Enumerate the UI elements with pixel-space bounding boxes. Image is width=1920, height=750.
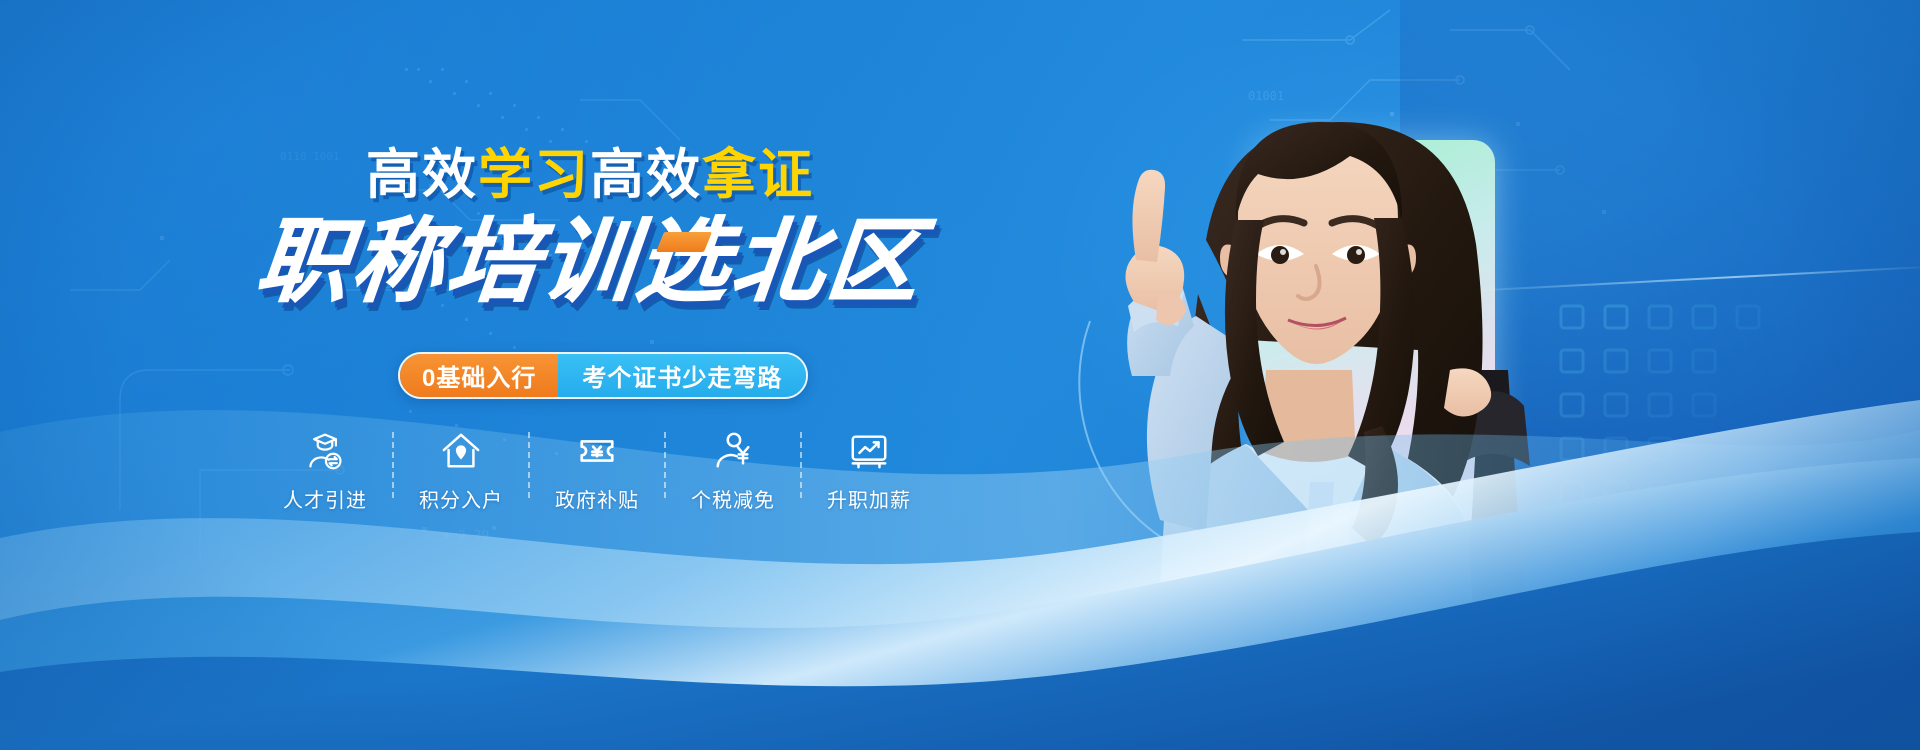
tagline-right-label: 考个证书少走弯路 [558,354,806,397]
headline-main-wrap: 职称培训选北区 [0,216,1180,316]
vignette-overlay [0,0,1920,750]
headline-main: 职称培训选北区 [253,216,928,308]
orange-accent-stroke [656,232,712,252]
feature-label: 积分入户 [419,484,503,513]
feature-item-tax-reduction[interactable]: 个税减免 [666,428,800,513]
voucher-yuan-icon [574,428,620,474]
headline-part-3: 高效 [590,145,702,205]
feature-label: 个税减免 [691,484,775,513]
feature-item-government-subsidy[interactable]: 政府补贴 [530,428,664,513]
feature-item-points-residency[interactable]: 积分入户 [394,428,528,513]
feature-label: 升职加薪 [827,484,911,513]
graduate-person-icon [302,428,348,474]
house-pin-icon [438,428,484,474]
growth-chart-icon [846,428,892,474]
headline-part-2-highlight: 学习 [478,145,590,205]
feature-list: 人才引进 积分入户 [258,428,936,513]
feature-item-talent-introduction[interactable]: 人才引进 [258,428,392,513]
headline-block: 高效学习高效拿证 职称培训选北区 [0,148,1180,316]
tagline-pill[interactable]: 0基础入行 考个证书少走弯路 [398,352,808,399]
person-yuan-icon [710,428,756,474]
feature-label: 政府补贴 [555,484,639,513]
headline-part-1: 高效 [366,145,478,205]
feature-label: 人才引进 [283,484,367,513]
headline-subtitle: 高效学习高效拿证 [0,148,1180,202]
headline-part-4-highlight: 拿证 [702,145,814,205]
feature-item-promotion-raise[interactable]: 升职加薪 [802,428,936,513]
promo-banner: 2 39 0110 1001 [0,0,1920,750]
tagline-left-label: 0基础入行 [400,354,558,397]
